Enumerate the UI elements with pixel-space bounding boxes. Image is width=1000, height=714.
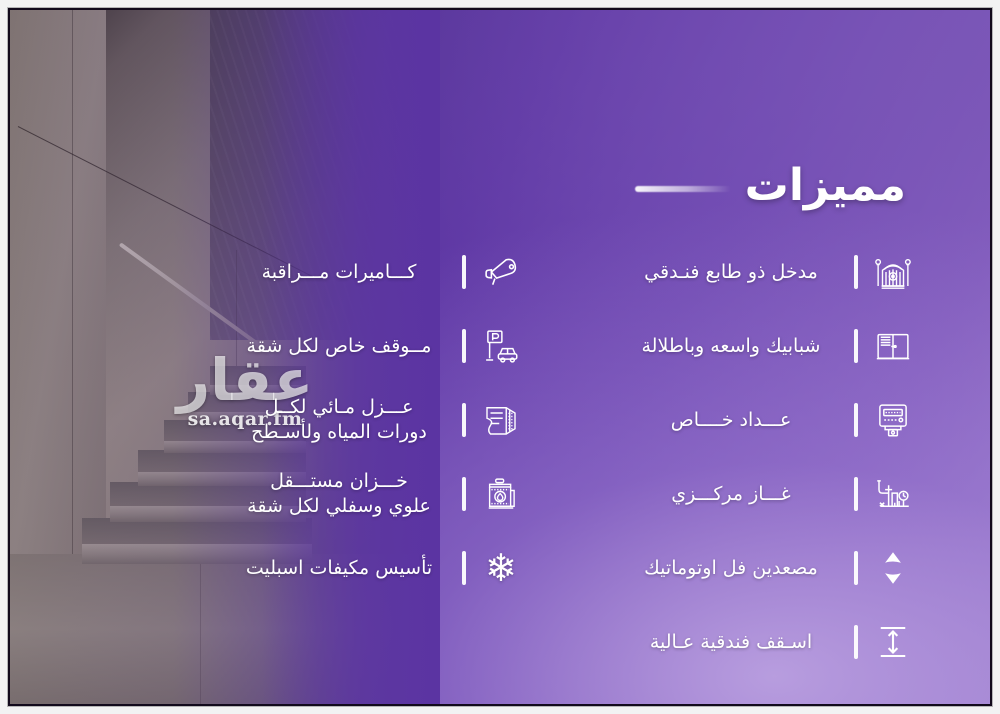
feature-label: مدخل ذو طابع فنـدقي [616,260,842,285]
feature-divider-bar [462,551,466,585]
ceiling-height-icon [870,619,916,665]
feature-label: تأسيس مكيفات اسبليت [224,556,450,581]
snowflake-glyph: ❄ [485,547,517,589]
feature-label: مــوقف خاص لكل شقة [224,334,450,359]
security-camera-icon [478,249,524,295]
feature-item-private-meter: عـــداد خــــاص [616,383,916,457]
title-underline-accent [635,186,731,192]
feature-label: اسـقف فندقية عـالية [616,630,842,655]
feature-column-right: مدخل ذو طابع فنـدقي شبابيك واس [616,235,916,679]
gas-pipe-icon [870,471,916,517]
poster-canvas: عقار sa.aqar.fm مميزات [10,10,990,704]
feature-item-private-parking: مــوقف خاص لكل شقة [224,309,524,383]
feature-column-left: كـــاميرات مـــراقبة [224,235,524,605]
feature-item-split-ac: ❄ تأسيس مكيفات اسبليت [224,531,524,605]
feature-divider-bar [854,625,858,659]
page-title: مميزات [635,162,906,210]
feature-divider-bar [462,403,466,437]
feature-divider-bar [462,255,466,289]
feature-divider-bar [462,477,466,511]
electric-meter-icon [870,397,916,443]
ornate-gate-icon [870,249,916,295]
snowflake-icon: ❄ [478,545,524,591]
feature-item-wide-windows: شبابيك واسعه وباطلالة [616,309,916,383]
parking-car-icon [478,323,524,369]
feature-label: خـــزان مستـــقل علوي وسفلي لكل شقة [224,469,450,519]
poster-frame: عقار sa.aqar.fm مميزات [8,8,992,706]
feature-label: غـــاز مركـــزي [616,482,842,507]
feature-item-security-cameras: كـــاميرات مـــراقبة [224,235,524,309]
feature-divider-bar [854,329,858,363]
water-tank-icon [478,471,524,517]
feature-item-hotel-entrance: مدخل ذو طابع فنـدقي [616,235,916,309]
feature-divider-bar [854,255,858,289]
feature-label: كـــاميرات مـــراقبة [224,260,450,285]
insulation-icon [478,397,524,443]
elevator-icon [870,545,916,591]
feature-label: عـــزل مـائي لكــل دورات المياه ولأسـطح [224,395,450,445]
feature-label: شبابيك واسعه وباطلالة [616,334,842,359]
page-title-text: مميزات [745,162,906,210]
feature-divider-bar [854,551,858,585]
feature-item-water-tank: خـــزان مستـــقل علوي وسفلي لكل شقة [224,457,524,531]
feature-item-waterproofing: عـــزل مـائي لكــل دورات المياه ولأسـطح [224,383,524,457]
feature-divider-bar [854,403,858,437]
feature-divider-bar [462,329,466,363]
feature-item-central-gas: غـــاز مركـــزي [616,457,916,531]
feature-label: عـــداد خــــاص [616,408,842,433]
feature-label: مصعدين فل اوتوماتيك [616,556,842,581]
feature-item-high-ceilings: اسـقف فندقية عـالية [616,605,916,679]
feature-divider-bar [854,477,858,511]
window-icon [870,323,916,369]
feature-item-elevators: مصعدين فل اوتوماتيك [616,531,916,605]
